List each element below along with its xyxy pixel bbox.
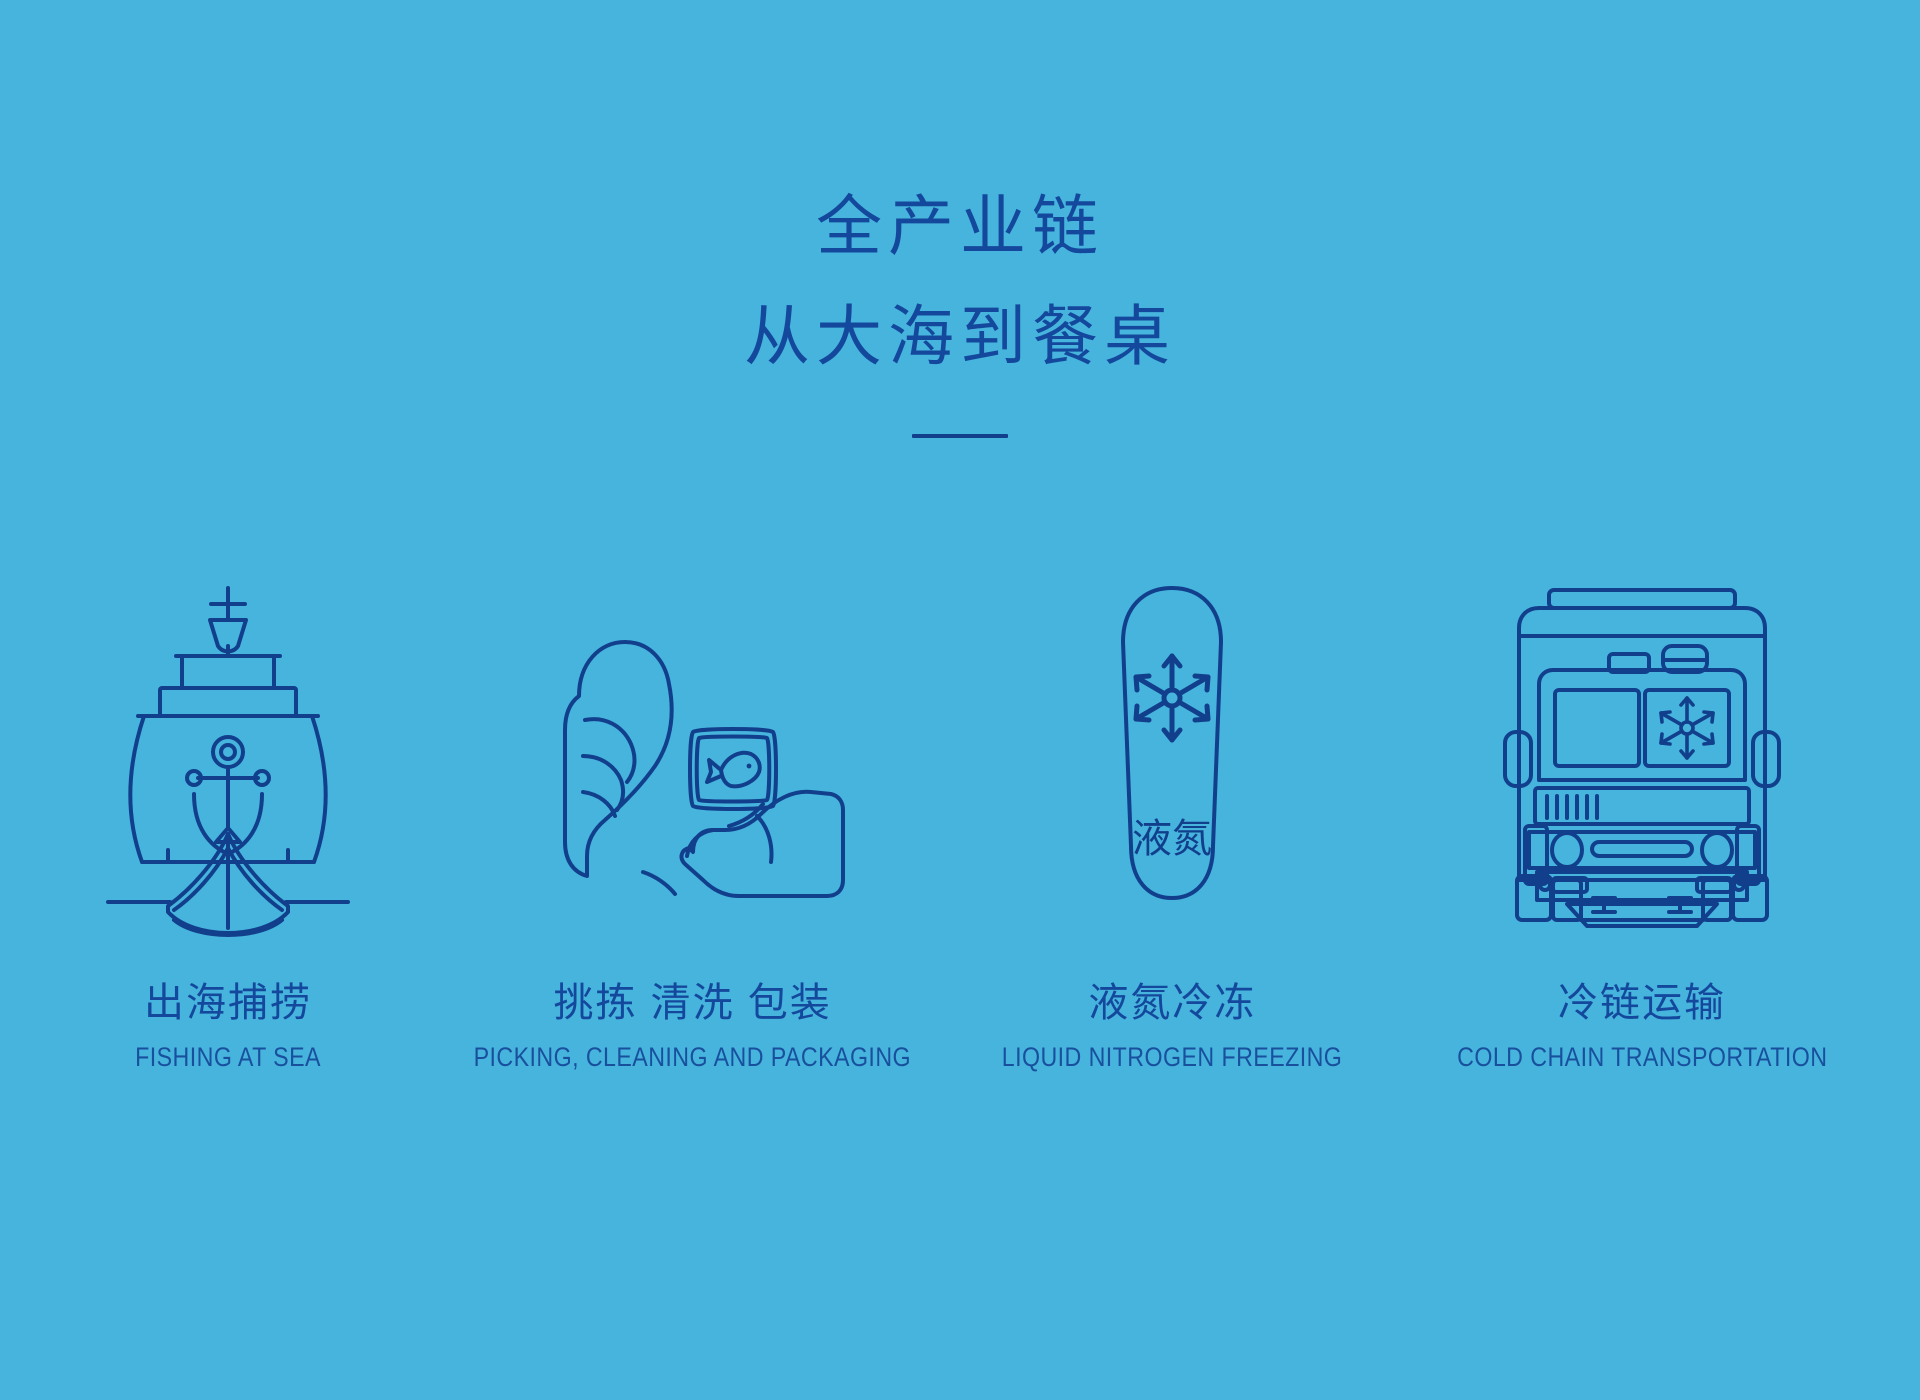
step-label-en: COLD CHAIN TRANSPORTATION <box>1457 1040 1827 1074</box>
step-label-cn: 出海捕捞 <box>144 978 312 1028</box>
step-label-en: FISHING AT SEA <box>135 1040 321 1074</box>
page-title-line-2: 从大海到餐桌 <box>0 288 1920 388</box>
refrigerated-truck-icon-box <box>1497 520 1787 920</box>
step-picking-cleaning-packaging: 挑拣 清洗 包装 PICKING, CLEANING AND PACKAGING <box>433 520 953 1074</box>
heading-block: 全产业链 从大海到餐桌 <box>0 178 1920 438</box>
process-steps-row: 出海捕捞 FISHING AT SEA <box>0 520 1920 1074</box>
refrigerated-truck-icon <box>1497 580 1787 920</box>
liquid-nitrogen-tank-icon-box: 液氮 <box>1097 520 1247 920</box>
step-fishing-at-sea: 出海捕捞 FISHING AT SEA <box>28 520 428 1074</box>
hands-packaged-fish-icon <box>543 580 843 920</box>
hands-packaged-fish-icon-box <box>543 520 843 920</box>
snowflake-icon <box>1661 698 1713 758</box>
fishing-boat-icon-box <box>98 520 358 920</box>
liquid-nitrogen-tank-icon: 液氮 <box>1097 580 1247 920</box>
step-label-en: LIQUID NITROGEN FREEZING <box>1002 1040 1343 1074</box>
title-divider-wrap <box>0 434 1920 438</box>
snowflake-icon <box>1136 656 1208 740</box>
page-title-line-1: 全产业链 <box>0 178 1920 278</box>
infographic-canvas: 全产业链 从大海到餐桌 <box>0 0 1920 1400</box>
fishing-boat-icon <box>98 580 358 920</box>
title-divider <box>912 434 1008 438</box>
step-cold-chain-transportation: 冷链运输 COLD CHAIN TRANSPORTATION <box>1392 520 1892 1074</box>
step-label-en: PICKING, CLEANING AND PACKAGING <box>474 1040 911 1074</box>
tank-inner-label: 液氮 <box>1132 817 1212 861</box>
step-label-cn: 冷链运输 <box>1558 978 1726 1028</box>
step-label-cn: 挑拣 清洗 包装 <box>554 978 832 1028</box>
step-liquid-nitrogen-freezing: 液氮 液氮冷冻 LIQUID NITROGEN FREEZING <box>957 520 1387 1074</box>
step-label-cn: 液氮冷冻 <box>1088 978 1256 1028</box>
